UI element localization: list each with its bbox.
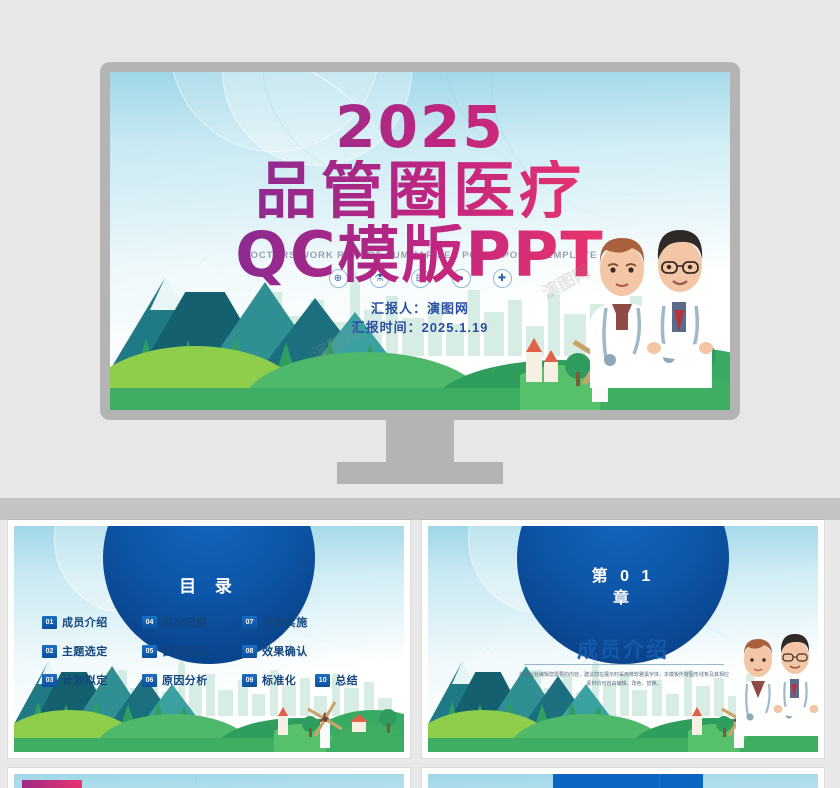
catalog-list: 01成员介绍 04现况把握 07对策实施 02主题选定 05目标设定 08效果确… — [42, 614, 382, 688]
catalog-slide: 目 录 01成员介绍 04现况把握 07对策实施 02主题选定 05目标设定 0… — [14, 526, 404, 752]
screenshot-root: 2025 品管圈医疗 DOCTORS WORK REPORT SUMMARIZE… — [0, 0, 840, 788]
monitor-screen: 2025 品管圈医疗 DOCTORS WORK REPORT SUMMARIZE… — [110, 72, 730, 410]
catalog-item[interactable]: 08效果确认 — [242, 643, 370, 659]
catalog-label: 标准化 — [262, 672, 296, 688]
thumbnail-row3-right[interactable] — [422, 768, 824, 788]
catalog-item[interactable]: 05目标设定 — [142, 643, 242, 659]
catalog-item[interactable]: 04现况把握 — [142, 614, 242, 630]
catalog-number: 09 — [242, 674, 257, 687]
catalog-number: 10 — [315, 674, 330, 687]
date-label: 汇报时间：2025.1.19 — [110, 317, 730, 336]
catalog-label: 主题选定 — [62, 643, 108, 659]
title-block: 2025 品管圈医疗 DOCTORS WORK REPORT SUMMARIZE… — [110, 72, 730, 410]
year-heading: 2025 — [110, 98, 730, 156]
partial-slide — [428, 774, 818, 788]
catalog-number: 01 — [42, 616, 57, 629]
monitor-area: 2025 品管圈医疗 DOCTORS WORK REPORT SUMMARIZE… — [0, 0, 840, 495]
catalog-label: 对策实施 — [262, 614, 308, 630]
monitor-bezel: 2025 品管圈医疗 DOCTORS WORK REPORT SUMMARIZE… — [100, 62, 740, 420]
catalog-label: 成员介绍 — [62, 614, 108, 630]
catalog-number: 02 — [42, 645, 57, 658]
title-line-2: QC模版PPT — [110, 224, 730, 286]
partial-slide — [14, 774, 404, 788]
section-title: 成员介绍 — [428, 634, 818, 664]
thumbnail-row3-left[interactable] — [8, 768, 410, 788]
catalog-number: 05 — [142, 645, 157, 658]
title-line-1: 品管圈医疗 — [110, 160, 730, 222]
catalog-item[interactable]: 09 标准化 10 总结 — [242, 672, 370, 688]
catalog-number: 06 — [142, 674, 157, 687]
catalog-dome-title: 目 录 — [179, 572, 239, 597]
thumbnail-section-01[interactable]: 第 0 1 章 成员介绍 单击此处编辑您需要的内容，建议您在展示时采用微软雅黑字… — [422, 520, 824, 758]
presenter-label: 汇报人：演图网 — [110, 298, 730, 317]
catalog-item[interactable]: 07对策实施 — [242, 614, 370, 630]
monitor-stand-base — [337, 462, 503, 484]
catalog-number: 07 — [242, 616, 257, 629]
catalog-number: 03 — [42, 674, 57, 687]
section-dome-title: 第 0 1 章 — [543, 566, 703, 609]
monitor-stand-neck — [386, 420, 454, 468]
catalog-item[interactable]: 01成员介绍 — [42, 614, 142, 630]
catalog-label: 总结 — [335, 672, 358, 688]
thumbnail-grid: 目 录 01成员介绍 04现况把握 07对策实施 02主题选定 05目标设定 0… — [0, 520, 840, 788]
catalog-label: 现况把握 — [162, 614, 208, 630]
catalog-label: 目标设定 — [162, 643, 208, 659]
village-windmill — [274, 682, 404, 752]
section-body-text: 单击此处编辑您需要的内容，建议您在展示时采用微软雅黑字体，本模板所有图形线条及其… — [518, 671, 730, 688]
pink-accent — [22, 780, 82, 788]
catalog-item[interactable]: 02主题选定 — [42, 643, 142, 659]
catalog-number: 04 — [142, 616, 157, 629]
catalog-label: 计划拟定 — [62, 672, 108, 688]
catalog-item[interactable]: 06原因分析 — [142, 672, 242, 688]
section-slide: 第 0 1 章 成员介绍 单击此处编辑您需要的内容，建议您在展示时采用微软雅黑字… — [428, 526, 818, 752]
catalog-number: 08 — [242, 645, 257, 658]
catalog-label: 效果确认 — [262, 643, 308, 659]
catalog-label: 原因分析 — [162, 672, 208, 688]
thumbnail-catalog[interactable]: 目 录 01成员介绍 04现况把握 07对策实施 02主题选定 05目标设定 0… — [8, 520, 410, 758]
desk-surface — [0, 498, 840, 520]
decor-swoosh — [173, 774, 404, 788]
main-slide: 2025 品管圈医疗 DOCTORS WORK REPORT SUMMARIZE… — [110, 72, 730, 410]
section-divider — [524, 664, 724, 665]
decor-swoosh — [638, 774, 818, 788]
catalog-item[interactable]: 03计划拟定 — [42, 672, 142, 688]
